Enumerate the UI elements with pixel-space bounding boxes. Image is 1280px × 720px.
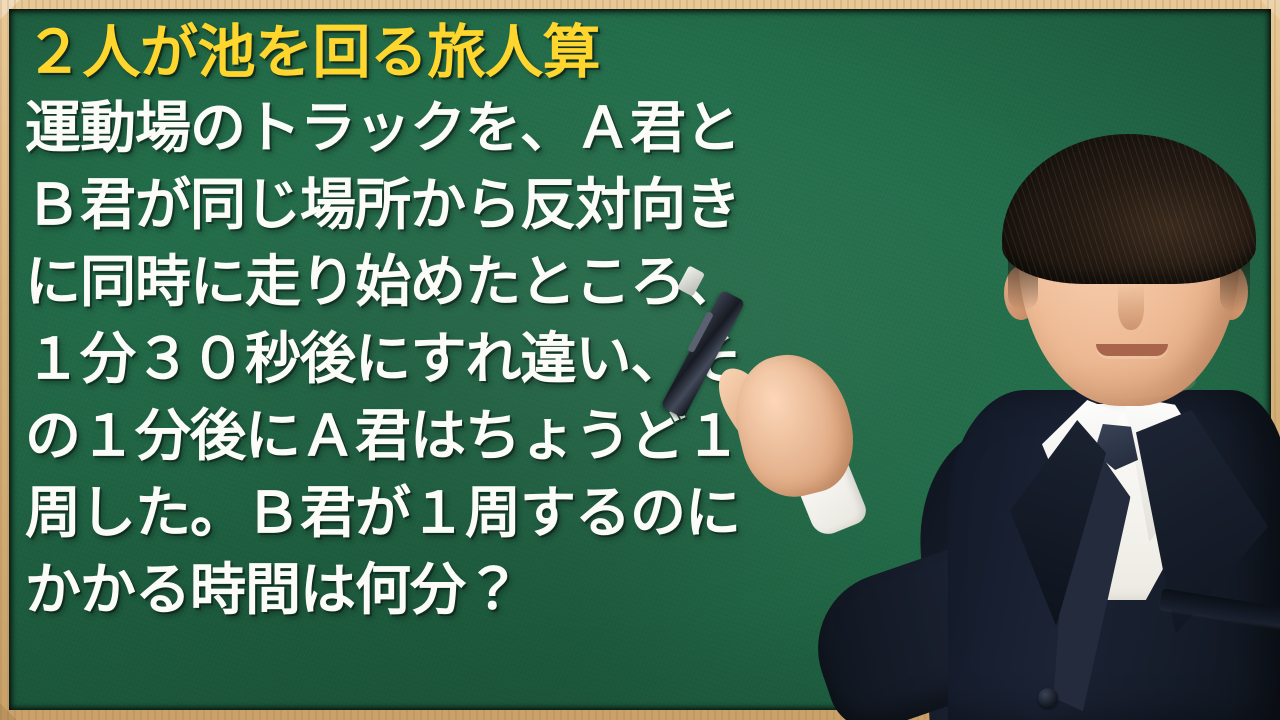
problem-line-7: かかる時間は何分？ — [25, 551, 1271, 628]
problem-title: ２人が池を回る旅人算 — [25, 23, 1271, 83]
problem-line-6: 周した。Ｂ君が１周するのに — [25, 474, 1271, 551]
chalkboard-surface: ２人が池を回る旅人算 運動場のトラックを、Ａ君と Ｂ君が同じ場所から反対向き に… — [9, 9, 1271, 710]
problem-line-1: 運動場のトラックを、Ａ君と — [25, 89, 1271, 166]
problem-line-3: に同時に走り始めたところ、 — [25, 243, 1271, 320]
chalkboard-content: ２人が池を回る旅人算 運動場のトラックを、Ａ君と Ｂ君が同じ場所から反対向き に… — [9, 9, 1271, 710]
problem-line-5: の１分後にＡ君はちょうど１ — [25, 397, 1271, 474]
problem-line-2: Ｂ君が同じ場所から反対向き — [25, 166, 1271, 243]
blackboard-slide: ２人が池を回る旅人算 運動場のトラックを、Ａ君と Ｂ君が同じ場所から反対向き に… — [0, 0, 1280, 720]
problem-line-4: １分３０秒後にすれ違い、そ — [25, 320, 1271, 397]
problem-statement: 運動場のトラックを、Ａ君と Ｂ君が同じ場所から反対向き に同時に走り始めたところ… — [25, 89, 1271, 628]
